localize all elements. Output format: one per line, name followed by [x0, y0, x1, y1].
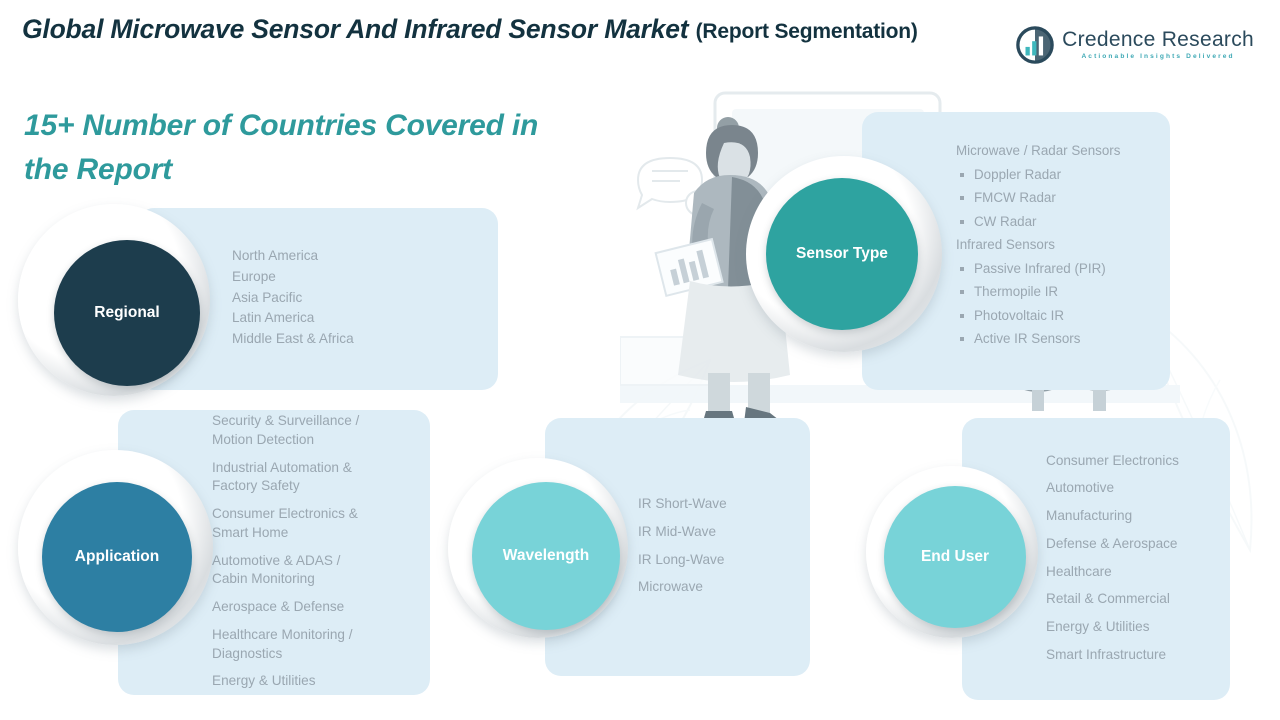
list-item: Photovoltaic IR [956, 307, 1154, 326]
list-item: Healthcare [1046, 563, 1214, 582]
regional-badge[interactable]: Regional [54, 240, 200, 386]
logo-tagline: Actionable Insights Delivered [1062, 54, 1254, 61]
list-item: Energy & Utilities [212, 672, 414, 691]
list-item: Europe [232, 268, 482, 287]
list-item: Consumer Electronics & Smart Home [212, 505, 414, 543]
list-item: Asia Pacific [232, 289, 482, 308]
list-item: Microwave [638, 578, 794, 597]
list-item: Industrial Automation & Factory Safety [212, 459, 414, 497]
list-item: CW Radar [956, 213, 1154, 232]
list-item: IR Short-Wave [638, 495, 794, 514]
list-item: Doppler Radar [956, 166, 1154, 185]
list-item: Thermopile IR [956, 283, 1154, 302]
logo-name: Credence Research [1062, 29, 1254, 50]
credence-chart-circle-icon [1016, 26, 1054, 64]
list-item: Aerospace & Defense [212, 598, 414, 617]
list-item: Defense & Aerospace [1046, 535, 1214, 554]
list-item: North America [232, 247, 482, 266]
page-title-sub: (Report Segmentation) [696, 20, 918, 43]
list-item: Retail & Commercial [1046, 590, 1214, 609]
list-item: Security & Surveillance / Motion Detecti… [212, 412, 414, 450]
list-item: Consumer Electronics [1046, 452, 1214, 471]
list-item: IR Long-Wave [638, 551, 794, 570]
list-item: Energy & Utilities [1046, 618, 1214, 637]
brand-logo[interactable]: Credence Research Actionable Insights De… [1016, 26, 1254, 64]
list-item: Middle East & Africa [232, 330, 482, 349]
list-item: IR Mid-Wave [638, 523, 794, 542]
application-badge[interactable]: Application [42, 482, 192, 632]
list-group-heading: Microwave / Radar Sensors [956, 142, 1154, 161]
page-title: Global Microwave Sensor And Infrared Sen… [22, 12, 982, 47]
list-item: FMCW Radar [956, 189, 1154, 208]
list-item: Manufacturing [1046, 507, 1214, 526]
countries-heading: 15+ Number of Countries Covered in the R… [24, 104, 544, 191]
list-group-heading: Infrared Sensors [956, 236, 1154, 255]
list-item: Passive Infrared (PIR) [956, 260, 1154, 279]
list-item: Automotive [1046, 479, 1214, 498]
list-item: Automotive & ADAS / Cabin Monitoring [212, 552, 414, 590]
infographic-canvas: Global Microwave Sensor And Infrared Sen… [0, 0, 1280, 720]
logo-text-block: Credence Research Actionable Insights De… [1062, 29, 1254, 61]
list-item: Smart Infrastructure [1046, 646, 1214, 665]
list-item: Active IR Sensors [956, 330, 1154, 349]
sensortype-badge[interactable]: Sensor Type [766, 178, 918, 330]
list-item: Latin America [232, 309, 482, 328]
wavelength-badge[interactable]: Wavelength [472, 482, 620, 630]
page-title-main: Global Microwave Sensor And Infrared Sen… [22, 14, 696, 44]
enduser-badge[interactable]: End User [884, 486, 1026, 628]
list-item: Healthcare Monitoring / Diagnostics [212, 626, 414, 664]
